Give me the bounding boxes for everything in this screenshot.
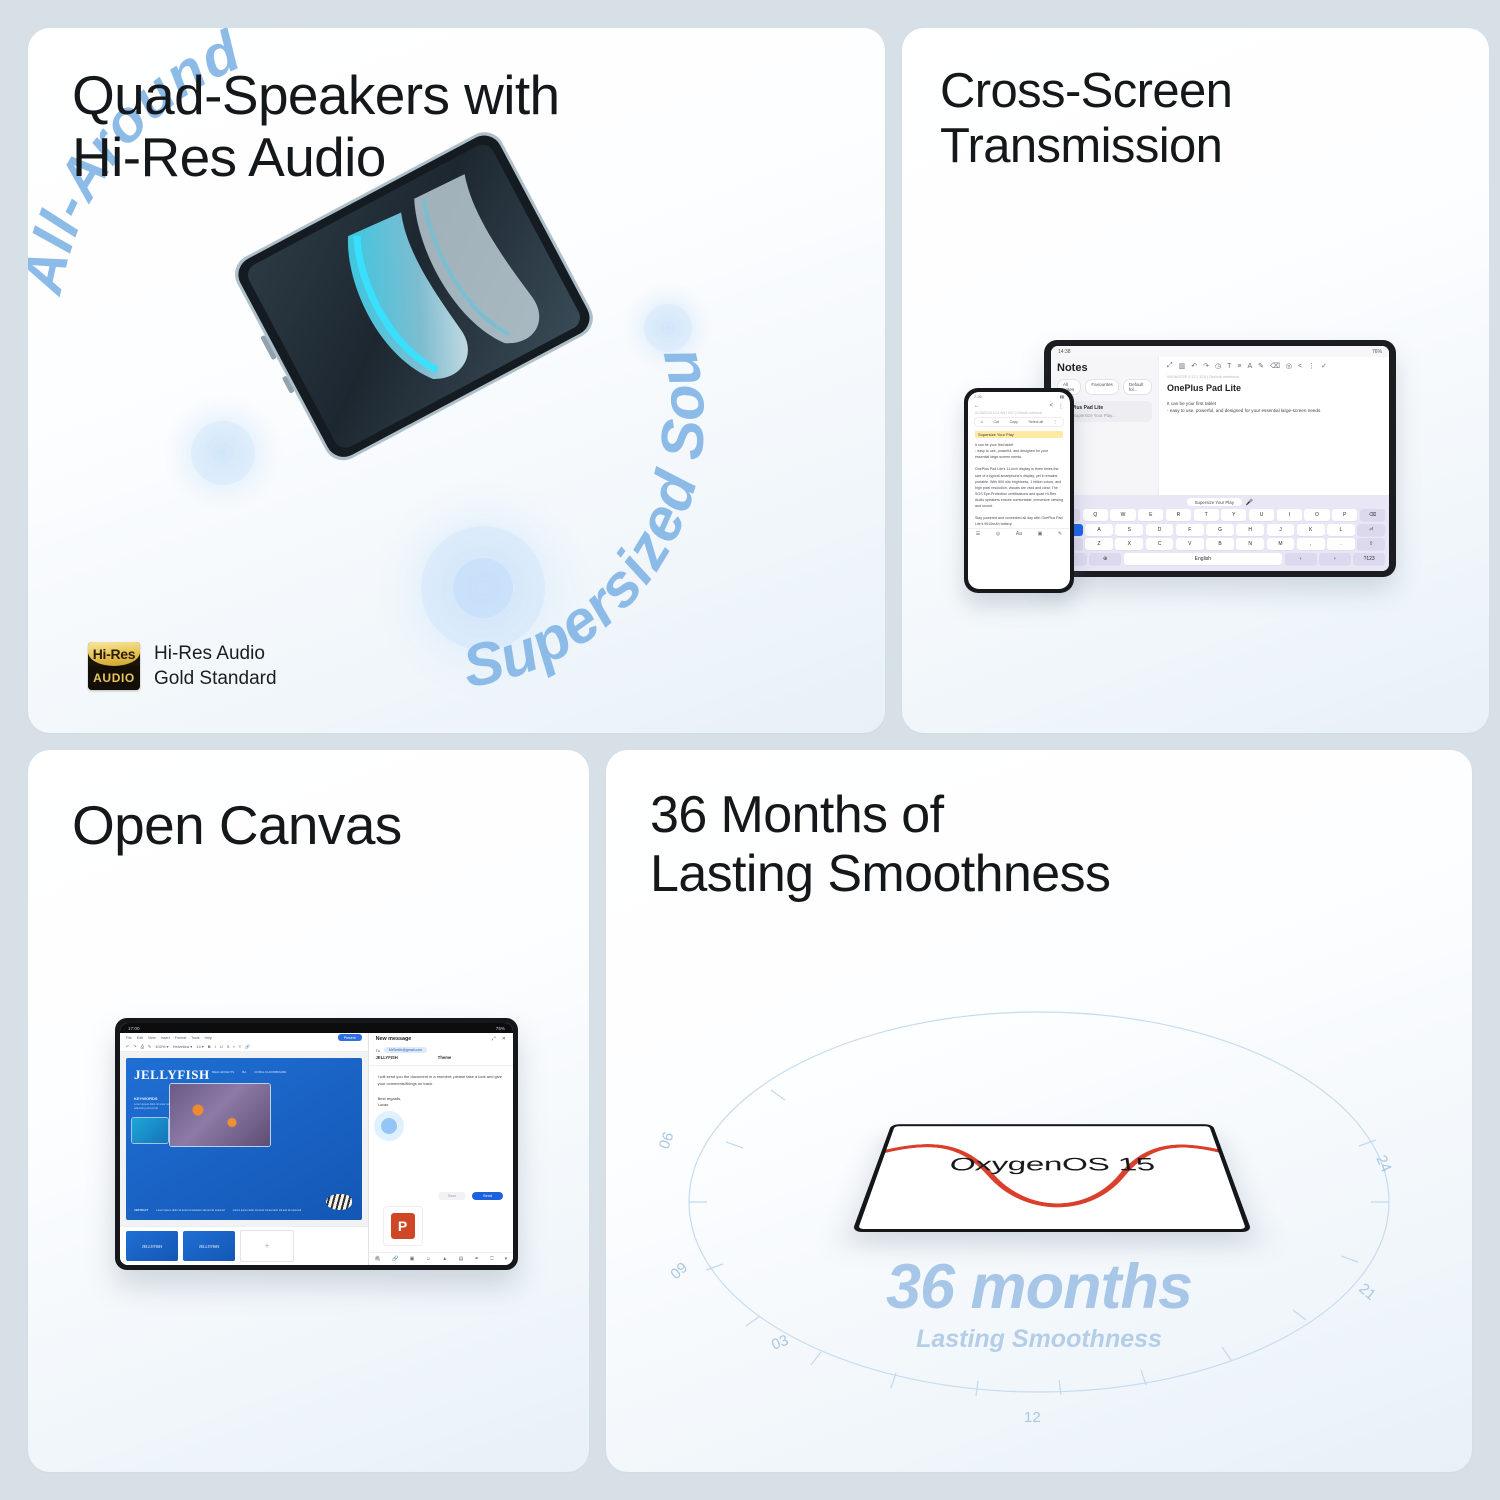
hi-res-audio-badge: Hi-Res AUDIO Hi-Res Audio Gold Standard: [88, 641, 277, 691]
badge-line-2: Gold Standard: [154, 666, 277, 691]
key-v[interactable]: V: [1176, 538, 1204, 550]
menu-view[interactable]: View: [148, 1036, 156, 1040]
dock-pen-icon[interactable]: ✎: [1058, 531, 1062, 537]
note-editor-toolbar[interactable]: ⤢ ▥ ↶ ↷ ◷ T ≡ A ✎ ⌫: [1167, 362, 1381, 370]
note-heading: OnePlus Pad Lite: [1167, 383, 1381, 393]
slide-tag-1: REAL EFFECTS: [212, 1070, 234, 1074]
key-shift-right[interactable]: ⇧: [1357, 538, 1385, 550]
text-style-icon[interactable]: T: [1227, 363, 1231, 370]
key-u[interactable]: U: [1249, 509, 1274, 521]
key-z[interactable]: Z: [1085, 538, 1113, 550]
present-button[interactable]: Present: [338, 1034, 362, 1041]
slide-tag-3: CORAL FLOORBOARD: [254, 1070, 286, 1074]
key-p[interactable]: P: [1332, 509, 1357, 521]
slide-section-b-title: ABSTRACT: [134, 1209, 148, 1212]
key-e[interactable]: E: [1138, 509, 1163, 521]
slide-tag-2: BA: [242, 1070, 246, 1074]
expand-icon[interactable]: ⤢: [1167, 362, 1173, 370]
key-l[interactable]: L: [1327, 524, 1355, 536]
image-icon[interactable]: ▣: [410, 1256, 415, 1262]
menu-help[interactable]: Help: [205, 1036, 212, 1040]
key-b[interactable]: B: [1206, 538, 1234, 550]
chip-default-folder[interactable]: Default fol...: [1123, 379, 1152, 395]
compose-body[interactable]: I will send you the document in a moment…: [369, 1066, 513, 1192]
attach-icon[interactable]: 🖇: [374, 1256, 380, 1262]
tablet-screen-oxygenos: OxygenOS 15: [858, 1126, 1246, 1229]
undo-icon[interactable]: ↶: [1191, 362, 1197, 370]
key-a[interactable]: A: [1085, 524, 1113, 536]
close-icon[interactable]: ✕: [502, 1036, 506, 1042]
action-cut[interactable]: Cut: [993, 420, 999, 424]
notes-app: Notes All notes Favourites Default fol..…: [1051, 357, 1389, 495]
suggestion-chip[interactable]: Supersize Your Play: [1187, 498, 1242, 506]
signature-icon[interactable]: ✒: [475, 1256, 479, 1262]
tablet-face: OxygenOS 15: [852, 1124, 1252, 1232]
list-icon[interactable]: ≡: [1237, 363, 1241, 370]
expand-icon[interactable]: ⤢: [492, 1036, 496, 1042]
layout-icon[interactable]: ▥: [1179, 362, 1186, 370]
phone-device-notes: 7:26 ▮▮ ← < ⋮ 01/06/2025 5:21 AM | 622 |…: [964, 388, 1074, 593]
phone-note-body: It can be your first tablet - easy to us…: [968, 442, 1070, 528]
text-color-icon[interactable]: ▪: [233, 1044, 234, 1049]
back-arrow-icon[interactable]: ←: [974, 403, 980, 409]
note-editor[interactable]: ⤢ ▥ ↶ ↷ ◷ T ≡ A ✎ ⌫: [1159, 357, 1389, 495]
to-label: To: [376, 1048, 380, 1053]
key-y[interactable]: Y: [1221, 509, 1246, 521]
key-h[interactable]: H: [1236, 524, 1264, 536]
dial-tick-06: 06: [656, 1130, 678, 1151]
key-space[interactable]: English: [1124, 553, 1283, 565]
attachment-powerpoint[interactable]: P: [383, 1206, 423, 1246]
slide-abstract-row: ABSTRACT Lorem ipsum dolor sit amet cons…: [134, 1209, 354, 1212]
key-c[interactable]: C: [1146, 538, 1174, 550]
slide-abstract-col-1: Lorem ipsum dolor sit amet consectetur e…: [156, 1209, 224, 1212]
panel-quad-speakers: All-Around Supersized Sound: [28, 28, 885, 733]
send-button[interactable]: Send: [472, 1192, 503, 1200]
share-icon[interactable]: <: [1298, 363, 1302, 370]
select-handle-icon[interactable]: ⌸: [981, 420, 983, 424]
key-enter[interactable]: ⏎: [1357, 524, 1385, 536]
key-d[interactable]: D: [1146, 524, 1174, 536]
key-arrow-left[interactable]: ‹: [1285, 553, 1317, 565]
key-i[interactable]: I: [1277, 509, 1302, 521]
slide-title: JELLYFISH: [134, 1067, 210, 1083]
compose-actions[interactable]: Save Send: [369, 1192, 513, 1206]
notes-filter-chips: All notes Favourites Default fol...: [1057, 379, 1152, 395]
product-feature-collage: All-Around Supersized Sound: [0, 0, 1500, 1500]
tablet-device-oxygenos: OxygenOS 15: [852, 1014, 1252, 1232]
touch-cursor-indicator: [381, 1118, 397, 1134]
compose-subject-row[interactable]: JELLYFISH Theme: [369, 1055, 513, 1066]
menu-tools[interactable]: Tools: [191, 1036, 199, 1040]
hi-res-audio-logo-icon: Hi-Res AUDIO: [88, 642, 140, 690]
key-w[interactable]: W: [1110, 509, 1135, 521]
key-s[interactable]: S: [1115, 524, 1143, 536]
subject-value: JELLYFISH: [376, 1055, 398, 1065]
slide-photo-anemone: [170, 1084, 270, 1146]
panel-title-open-canvas: Open Canvas: [72, 794, 402, 856]
key-x[interactable]: X: [1115, 538, 1143, 550]
tablet-status-bar: 14:38 76%: [1051, 346, 1389, 357]
italic-icon[interactable]: I: [215, 1044, 216, 1049]
slide-thumb-1[interactable]: JELLYFISH: [126, 1231, 178, 1261]
slides-menubar[interactable]: File Edit View Insert Format Tools Help …: [120, 1033, 368, 1042]
keyboard-row-3[interactable]: ⇧ Z X C V B N M , . ⇧: [1055, 538, 1385, 550]
cross-screen-illustration: 14:38 76% Notes All notes Favourites Def…: [902, 28, 1489, 733]
key-numeric[interactable]: ?123: [1353, 553, 1385, 565]
keyboard-suggestion-bar[interactable]: Supersize Your Play 🎤: [1055, 498, 1385, 506]
emoji-icon[interactable]: ☺: [426, 1256, 431, 1262]
strike-icon[interactable]: S: [227, 1044, 230, 1049]
action-copy[interactable]: Copy: [1010, 420, 1018, 424]
smoothness-caption: 36 months Lasting Smoothness: [606, 1256, 1472, 1354]
menu-format[interactable]: Format: [175, 1036, 186, 1040]
pen-icon[interactable]: ✎: [1258, 362, 1264, 370]
slide-thumbnail-image: [132, 1118, 168, 1143]
key-arrow-right[interactable]: ›: [1319, 553, 1351, 565]
speakers-illustration: All-Around Supersized Sound: [28, 28, 885, 733]
redo-icon[interactable]: ↷: [1203, 362, 1209, 370]
save-draft-button[interactable]: Save: [438, 1192, 466, 1200]
link-icon[interactable]: 🔗: [392, 1256, 398, 1262]
key-t[interactable]: T: [1194, 509, 1219, 521]
phone-status-icons: ▮▮: [1060, 394, 1064, 399]
note-meta: 05/06/2025 2:12 | 325 | Default notebook: [1167, 374, 1381, 379]
undo-icon[interactable]: ↶: [126, 1044, 129, 1049]
phone-note-toolbar[interactable]: ← < ⋮: [968, 401, 1070, 411]
dock-check-icon[interactable]: ◎: [996, 531, 1000, 537]
keyboard-row-2[interactable]: ⇪ A S D F G H J K L ⏎: [1055, 524, 1385, 536]
compose-to-row[interactable]: To MrSmith@gmail.com: [369, 1045, 513, 1055]
slides-toolbar[interactable]: ↶ ↷ ⎙ ✎ 100% ▾ Helvetica ▾ 14 ▾ B I U S …: [120, 1042, 368, 1052]
notes-app-title: Notes: [1057, 362, 1152, 374]
slide-abstract-col-2: Lorem ipsum dolor sit amet consectetur e…: [233, 1209, 301, 1212]
compose-toolbar[interactable]: 🖇 🔗 ▣ ☺ ▲ ▤ ✒ ⎕ ▾: [369, 1252, 513, 1265]
badge-logo-bottom: AUDIO: [88, 666, 140, 690]
compose-signer: Lucas: [378, 1102, 504, 1109]
oc-status-bar: 17:00 75%: [120, 1023, 513, 1033]
key-backspace[interactable]: ⌫: [1360, 509, 1385, 521]
keyboard-row-4[interactable]: ☺ ⊕ English ‹ › ?123: [1055, 553, 1385, 565]
slide-fish-graphic: [326, 1194, 352, 1210]
camera-icon[interactable]: ◎: [1286, 362, 1292, 370]
panel-lasting-smoothness: 36 Months of Lasting Smoothness: [606, 750, 1472, 1472]
badge-text: Hi-Res Audio Gold Standard: [154, 641, 277, 691]
action-more-icon[interactable]: ⋮: [1054, 420, 1058, 424]
text-selection-menu[interactable]: ⌸ Cut Copy Select all ⋮: [974, 417, 1064, 427]
slide-thumbnail-strip[interactable]: JELLYFISH JELLYFISH +: [120, 1226, 368, 1265]
key-g[interactable]: G: [1206, 524, 1234, 536]
add-slide-button[interactable]: +: [240, 1230, 294, 1262]
tablet-screen: 14:38 76% Notes All notes Favourites Def…: [1051, 346, 1389, 571]
paint-format-icon[interactable]: ✎: [148, 1044, 151, 1049]
menu-insert[interactable]: Insert: [161, 1036, 170, 1040]
slides-app[interactable]: File Edit View Insert Format Tools Help …: [120, 1033, 369, 1265]
slide-tags: REAL EFFECTS BA CORAL FLOORBOARD: [212, 1070, 286, 1074]
highlight-icon[interactable]: A: [1247, 363, 1252, 370]
compose-title: New message: [376, 1036, 412, 1042]
slide-thumb-2[interactable]: JELLYFISH: [183, 1231, 235, 1261]
tablet-device-open-canvas: 17:00 75% File Edit View Insert Format T…: [115, 1018, 518, 1270]
done-icon[interactable]: ✓: [1321, 362, 1327, 370]
menu-file[interactable]: File: [126, 1036, 132, 1040]
recipient-chip[interactable]: MrSmith@gmail.com: [384, 1047, 427, 1053]
slide-canvas[interactable]: JELLYFISH REAL EFFECTS BA CORAL FLOORBOA…: [120, 1052, 368, 1226]
keyboard-row-1[interactable]: ⇥ Q W E R T Y U I O P ⌫: [1055, 509, 1385, 521]
lock-icon[interactable]: ⎕: [490, 1256, 493, 1262]
key-f[interactable]: F: [1176, 524, 1204, 536]
dial-tick-24: 24: [1372, 1153, 1394, 1175]
phone-more-icon[interactable]: ⋮: [1058, 403, 1064, 410]
phone-share-icon[interactable]: <: [1049, 403, 1053, 409]
eraser-icon[interactable]: ⌫: [1270, 362, 1280, 370]
status-battery: 76%: [1372, 349, 1382, 355]
chip-favourites[interactable]: Favourites: [1085, 379, 1118, 395]
compose-body-text: I will send you the document in a moment…: [378, 1074, 504, 1088]
align-icon[interactable]: ≡: [239, 1044, 241, 1049]
mail-compose-pane[interactable]: New message ⤢ ✕ To MrSmith@gmail.com JEL…: [369, 1033, 513, 1265]
phone-screen: 7:26 ▮▮ ← < ⋮ 01/06/2025 5:21 AM | 622 |…: [968, 392, 1070, 589]
phone-status-time: 7:26: [974, 394, 982, 399]
more-icon[interactable]: ▾: [505, 1256, 508, 1262]
key-o[interactable]: O: [1304, 509, 1329, 521]
key-j[interactable]: J: [1267, 524, 1295, 536]
smoothness-curve-svg: [858, 1126, 1246, 1229]
zoom-level[interactable]: 100% ▾: [155, 1044, 168, 1049]
smoothness-illustration: 09 06 03 12 24 21 OxygenOS 15: [606, 750, 1472, 1472]
badge-logo-top: Hi-Res: [88, 642, 140, 666]
dock-list-icon[interactable]: ☰: [976, 531, 980, 537]
on-screen-keyboard[interactable]: Supersize Your Play 🎤 ⇥ Q W E R T Y: [1051, 495, 1389, 571]
compose-window-controls[interactable]: ⤢ ✕: [492, 1036, 506, 1042]
oxygenos-version-label: OxygenOS 15: [877, 1155, 1226, 1175]
key-q[interactable]: Q: [1083, 509, 1108, 521]
compose-signoff: Best regards,: [378, 1096, 504, 1103]
key-n[interactable]: N: [1236, 538, 1264, 550]
more-icon[interactable]: ⋮: [1308, 362, 1315, 370]
note-line-2: - easy to use, powerful, and designed fo…: [1167, 407, 1381, 414]
underline-icon[interactable]: U: [220, 1044, 223, 1049]
microphone-icon[interactable]: 🎤: [1246, 499, 1253, 506]
dock-aa-icon[interactable]: Aa: [1016, 531, 1022, 537]
dial-tick-12: 12: [1024, 1409, 1041, 1426]
tablet-device-notes: 14:38 76% Notes All notes Favourites Def…: [1044, 340, 1396, 577]
key-r[interactable]: R: [1166, 509, 1191, 521]
powerpoint-icon: P: [391, 1213, 415, 1239]
caption-36-months: 36 months: [606, 1256, 1472, 1319]
open-canvas-screen: 17:00 75% File Edit View Insert Format T…: [120, 1023, 513, 1265]
caption-lasting-smoothness: Lasting Smoothness: [606, 1325, 1472, 1354]
slide-jellyfish[interactable]: JELLYFISH REAL EFFECTS BA CORAL FLOORBOA…: [126, 1058, 362, 1220]
status-time: 14:38: [1058, 349, 1071, 355]
action-select-all[interactable]: Select all: [1029, 420, 1044, 424]
bold-icon[interactable]: B: [208, 1044, 211, 1049]
link-icon[interactable]: 🔗: [245, 1044, 250, 1049]
oc-status-time: 17:00: [128, 1026, 140, 1031]
key-comma[interactable]: ,: [1297, 538, 1325, 550]
highlighted-text: Supersize Your Play: [975, 431, 1063, 438]
redo-icon[interactable]: ↷: [133, 1044, 136, 1049]
badge-line-1: Hi-Res Audio: [154, 641, 277, 666]
note-item-title: OnePlus Pad Lite: [1062, 405, 1147, 411]
print-icon[interactable]: ⎙: [141, 1044, 144, 1049]
menu-edit[interactable]: Edit: [137, 1036, 143, 1040]
font-size[interactable]: 14 ▾: [196, 1044, 204, 1049]
theme-label: Theme: [438, 1055, 452, 1065]
key-m[interactable]: M: [1267, 538, 1295, 550]
clock-icon[interactable]: ◷: [1215, 362, 1221, 370]
panel-title-quad-speakers: Quad-Speakers with Hi-Res Audio: [72, 64, 560, 188]
font-select[interactable]: Helvetica ▾: [173, 1044, 193, 1049]
globe-icon[interactable]: ⊕: [1089, 553, 1121, 565]
phone-bottom-dock[interactable]: ☰ ◎ Aa ▣ ✎: [968, 528, 1070, 540]
compose-header: New message ⤢ ✕: [369, 1033, 513, 1045]
note-item-subtitle: 2025 Supersize Your Play...: [1062, 413, 1147, 418]
dock-image-icon[interactable]: ▣: [1038, 531, 1043, 537]
key-period[interactable]: .: [1327, 538, 1355, 550]
note-line-1: It can be your first tablet: [1167, 400, 1381, 407]
phone-status-bar: 7:26 ▮▮: [968, 392, 1070, 401]
key-k[interactable]: K: [1297, 524, 1325, 536]
photo-icon[interactable]: ▤: [459, 1256, 464, 1262]
panel-cross-screen: Cross-Screen Transmission 14:38 76% Note…: [902, 28, 1489, 733]
oc-status-battery: 75%: [496, 1026, 505, 1031]
split-screen-area: File Edit View Insert Format Tools Help …: [120, 1033, 513, 1265]
drive-icon[interactable]: ▲: [442, 1256, 447, 1262]
